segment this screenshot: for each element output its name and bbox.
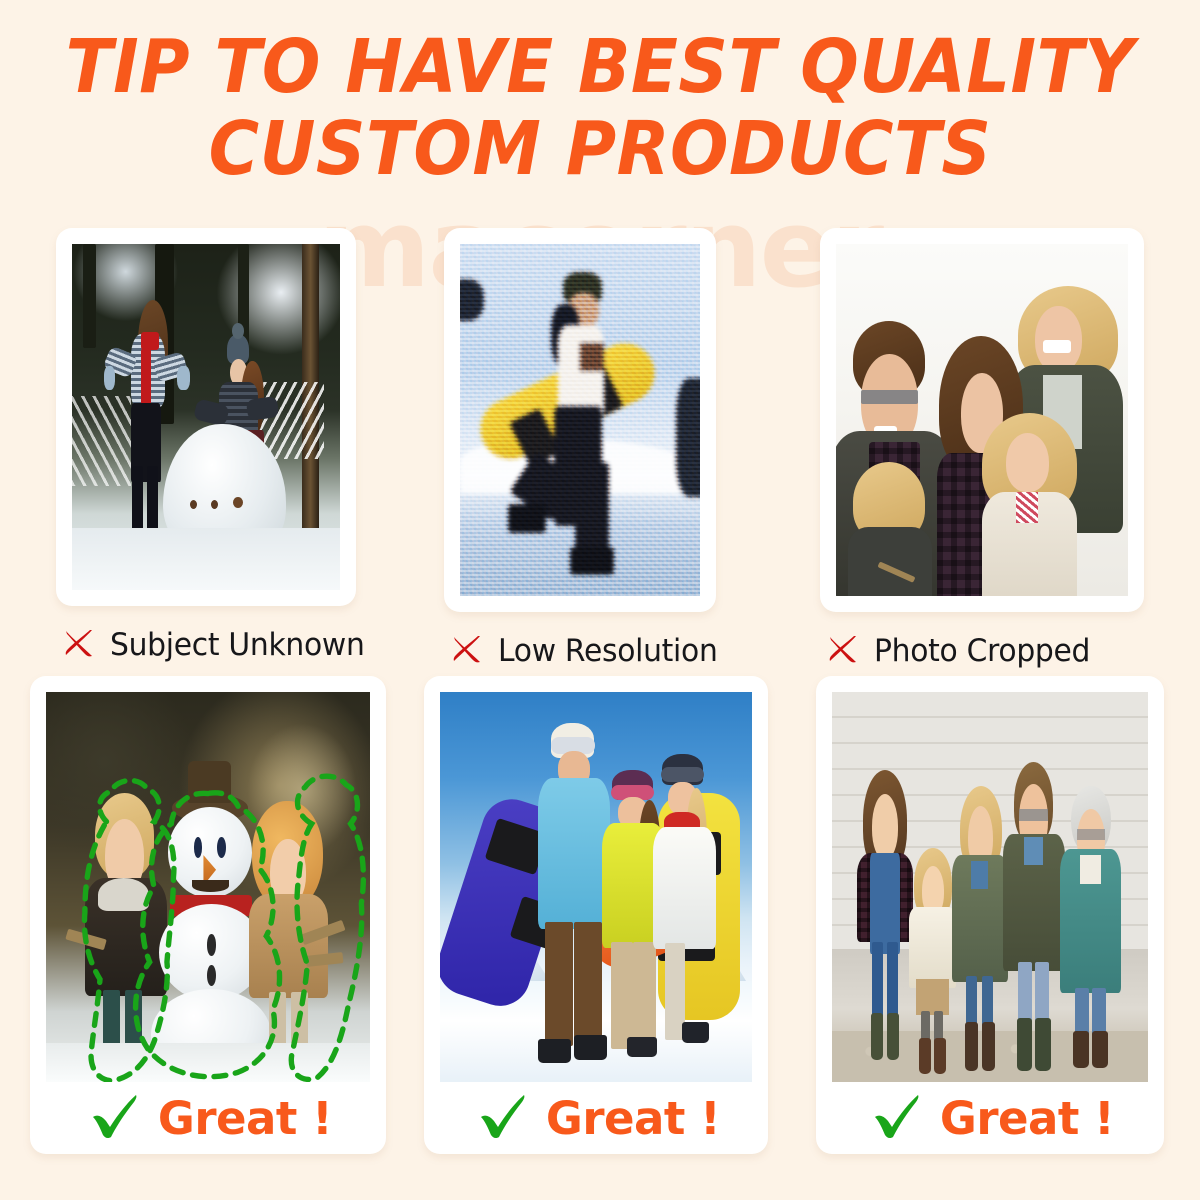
example-card-great-family-barn: Great ! (816, 676, 1164, 1154)
verdict-label-subject-unknown: Subject Unknown (58, 616, 356, 674)
red-x-icon (62, 626, 96, 665)
photo-family-of-five-cropped-at-frame-edges (836, 244, 1128, 596)
page-title-line-1: TIP TO HAVE BEST QUALITY (42, 26, 1158, 108)
red-x-icon (826, 632, 860, 671)
example-card-photo-cropped: Photo Cropped (820, 228, 1144, 680)
verdict-label-text: Subject Unknown (110, 627, 365, 663)
photo-card (56, 228, 356, 606)
verdict-label-text: Photo Cropped (874, 633, 1090, 669)
example-card-great-snowboarders: Great ! (424, 676, 768, 1154)
photo-card (820, 228, 1144, 612)
page-title: TIP TO HAVE BEST QUALITY CUSTOM PRODUCTS (0, 26, 1200, 190)
photo-three-snowboarders-on-snowy-mountain (440, 692, 752, 1082)
verdict-label-great-1: Great ! (46, 1082, 370, 1154)
example-card-low-resolution: Low Resolution (444, 228, 716, 680)
verdict-label-text: Low Resolution (498, 633, 718, 669)
photo-pixelated-noisy-snowboarder-carrying-yellow-board (460, 244, 700, 596)
green-check-icon (88, 1090, 140, 1147)
verdict-label-text: Great ! (940, 1092, 1114, 1145)
example-card-subject-unknown: Subject Unknown (56, 228, 356, 674)
photo-card: Great ! (30, 676, 386, 1154)
photo-card: Great ! (816, 676, 1164, 1154)
verdict-label-great-2: Great ! (440, 1082, 752, 1154)
verdict-label-text: Great ! (546, 1092, 720, 1145)
example-card-great-outlined-subjects: Great ! (30, 676, 386, 1154)
verdict-label-photo-cropped: Photo Cropped (822, 622, 1144, 680)
green-dashed-subject-outline (46, 692, 370, 1082)
verdict-label-text: Great ! (158, 1092, 332, 1145)
verdict-label-great-3: Great ! (832, 1082, 1148, 1154)
page-title-line-2: CUSTOM PRODUCTS (42, 108, 1158, 190)
photo-two-women-with-snowman-green-dashed-subject-outline (46, 692, 370, 1082)
photo-two-women-building-snowman-in-snowy-forest (72, 244, 340, 590)
photo-card (444, 228, 716, 612)
green-check-icon (476, 1090, 528, 1147)
examples-grid: Subject Unknown (0, 228, 1200, 1168)
red-x-icon (450, 632, 484, 671)
photo-card: Great ! (424, 676, 768, 1154)
green-check-icon (870, 1090, 922, 1147)
verdict-label-low-resolution: Low Resolution (446, 622, 716, 680)
photo-family-of-five-standing-by-barn-wall (832, 692, 1148, 1082)
